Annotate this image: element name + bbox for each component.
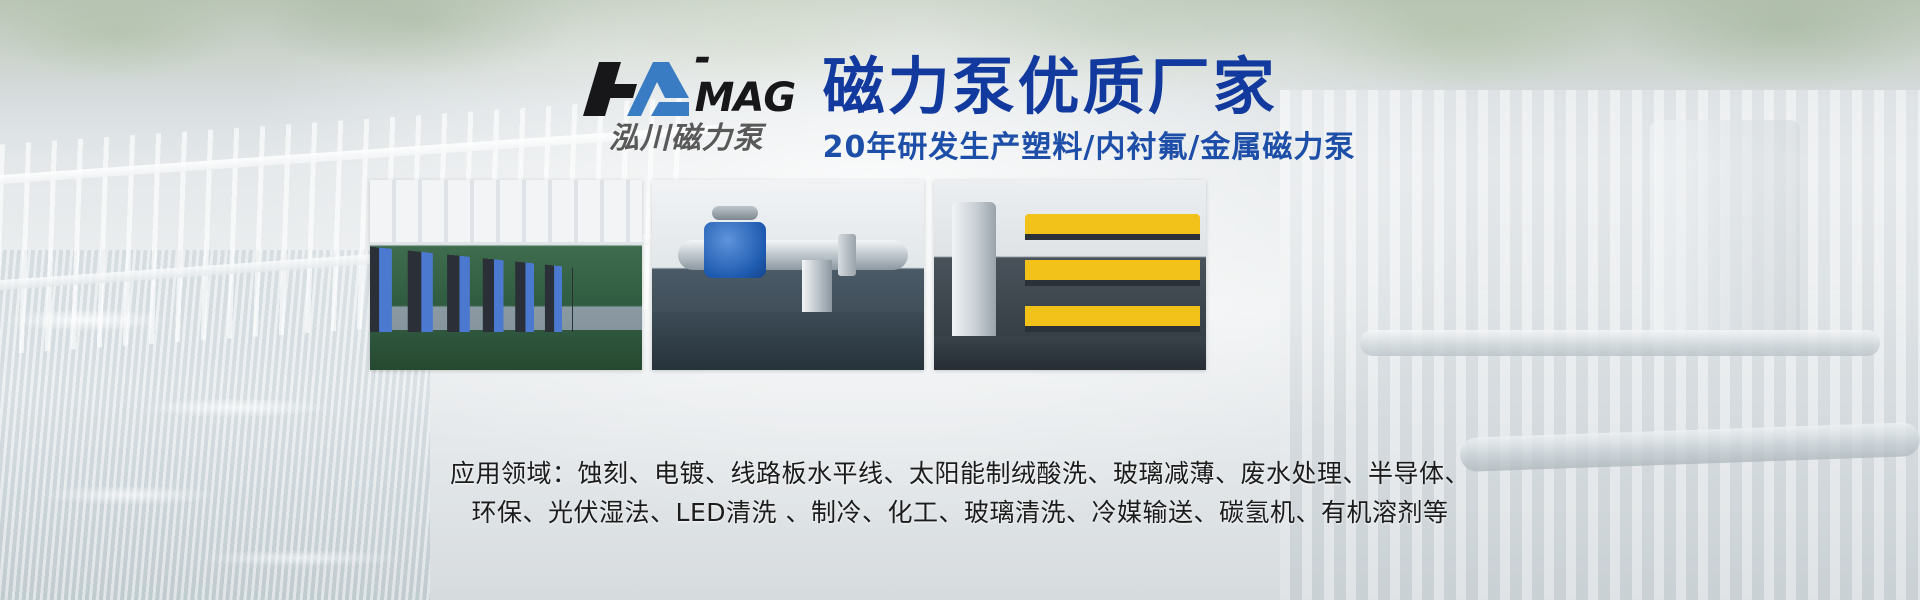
photo3-floor bbox=[934, 336, 1206, 370]
application-fields-line-1: 应用领域：蚀刻、电镀、线路板水平线、太阳能制绒酸洗、玻璃减薄、废水处理、半导体、 bbox=[0, 455, 1920, 494]
logo-brand-chinese: 泓川磁力泵 bbox=[609, 124, 805, 154]
photo-pump-assembly-line[interactable] bbox=[370, 180, 642, 370]
logo-latin-text: -MAG bbox=[695, 38, 805, 118]
application-fields: 应用领域：蚀刻、电镀、线路板水平线、太阳能制绒酸洗、玻璃减薄、废水处理、半导体、… bbox=[0, 455, 1920, 533]
photo-yellow-pump-row[interactable] bbox=[934, 180, 1206, 370]
banner-header: -MAG 泓川磁力泵 磁力泵优质厂家 20年研发生产塑料/内衬氟/金属磁力泵 bbox=[0, 52, 1920, 164]
hc-mag-logo-lockup: -MAG bbox=[565, 58, 805, 120]
banner-content: -MAG 泓川磁力泵 磁力泵优质厂家 20年研发生产塑料/内衬氟/金属磁力泵 bbox=[0, 0, 1920, 600]
photo1-pump-row bbox=[370, 246, 573, 332]
hc-monogram-icon bbox=[565, 58, 693, 120]
headline-block: 磁力泵优质厂家 20年研发生产塑料/内衬氟/金属磁力泵 bbox=[823, 52, 1356, 164]
photo3-yellow-pumps bbox=[1025, 214, 1200, 354]
photo2-flange bbox=[838, 234, 856, 276]
photo-valve-piping[interactable] bbox=[652, 180, 924, 370]
photo2-blue-valve bbox=[704, 222, 766, 278]
product-photo-strip bbox=[370, 180, 1206, 370]
banner-subheadline: 20年研发生产塑料/内衬氟/金属磁力泵 bbox=[823, 131, 1356, 164]
photo2-floor bbox=[652, 312, 924, 370]
brand-logo[interactable]: -MAG 泓川磁力泵 bbox=[565, 52, 805, 154]
photo1-green-floor bbox=[370, 330, 642, 370]
banner-headline: 磁力泵优质厂家 bbox=[823, 54, 1356, 119]
photo1-back-wall bbox=[370, 180, 642, 242]
photo2-valve-handle bbox=[712, 206, 758, 220]
application-fields-line-2: 环保、光伏湿法、LED清洗 、制冷、化工、玻璃清洗、冷媒输送、碳氢机、有机溶剂等 bbox=[0, 494, 1920, 533]
photo3-white-column bbox=[952, 202, 996, 352]
promotional-banner: -MAG 泓川磁力泵 磁力泵优质厂家 20年研发生产塑料/内衬氟/金属磁力泵 bbox=[0, 0, 1920, 600]
